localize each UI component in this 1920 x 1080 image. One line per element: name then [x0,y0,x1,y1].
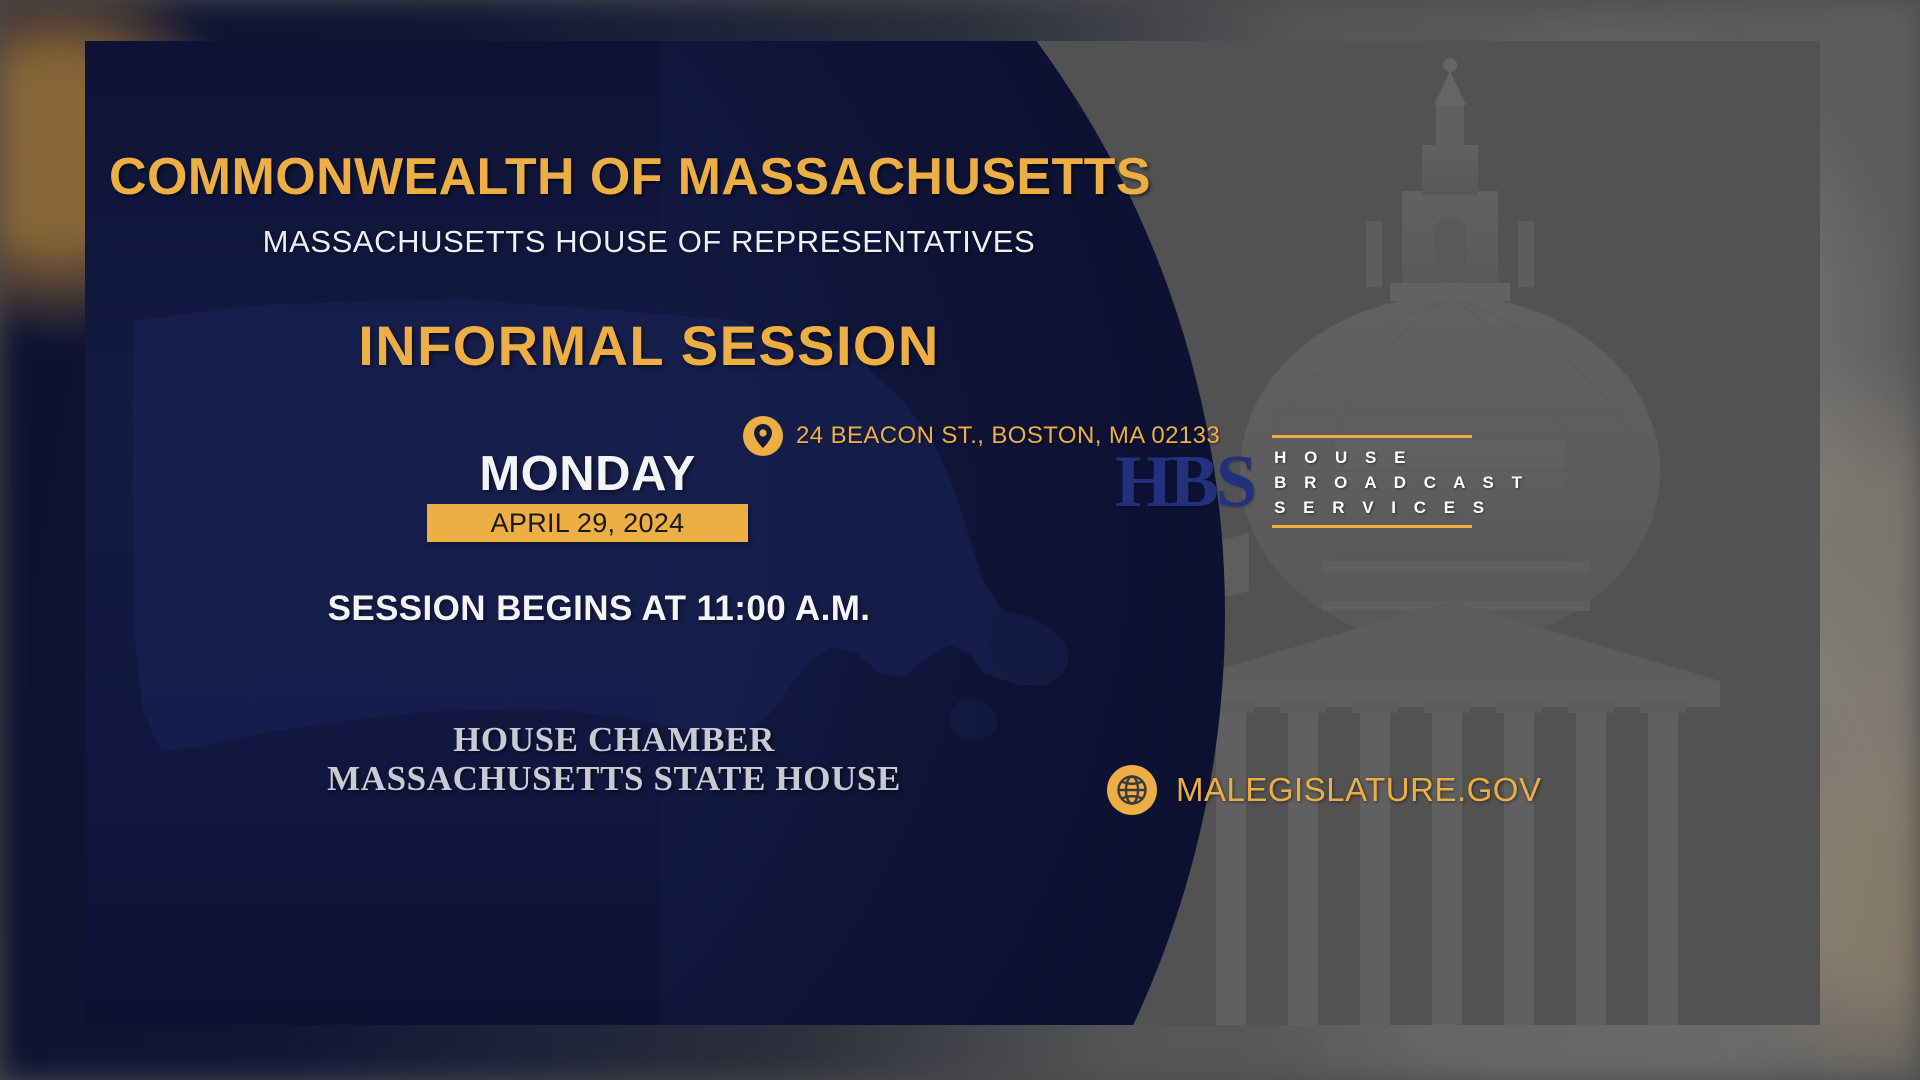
slate-content: COMMONWEALTH OF MASSACHUSETTS MASSACHUSE… [85,41,1245,1025]
venue-building: MASSACHUSETTS STATE HOUSE [109,759,1119,798]
hbs-word-broadcast: B R O A D C A S T [1274,470,1528,495]
page-title: COMMONWEALTH OF MASSACHUSETTS [109,147,1209,207]
hbs-word-house: H O U S E [1274,445,1528,470]
session-type-heading: INFORMAL SESSION [109,313,1189,378]
website-url[interactable]: MALEGISLATURE.GOV [1176,771,1541,809]
hbs-word-services: S E R V I C E S [1274,495,1528,520]
website-row[interactable]: MALEGISLATURE.GOV [1107,765,1541,815]
globe-icon [1107,765,1157,815]
session-slate-card: COMMONWEALTH OF MASSACHUSETTS MASSACHUSE… [85,41,1820,1025]
session-start-time: SESSION BEGINS AT 11:00 A.M. [109,589,1089,629]
venue-block: HOUSE CHAMBER MASSACHUSETTS STATE HOUSE [109,720,1119,798]
venue-room: HOUSE CHAMBER [109,720,1119,759]
session-date-badge: APRIL 29, 2024 [427,504,748,542]
session-day: MONDAY [365,446,810,502]
hbs-logo: HBS H O U S E B R O A D C A S T S E R V … [1115,426,1530,537]
hbs-wordmark: H O U S E B R O A D C A S T S E R V I C … [1272,426,1530,537]
hbs-wordmark-lines: H O U S E B R O A D C A S T S E R V I C … [1272,438,1530,525]
hbs-monogram: HBS [1115,445,1254,519]
hbs-rule-bottom [1272,525,1472,528]
chamber-subtitle: MASSACHUSETTS HOUSE OF REPRESENTATIVES [109,224,1189,260]
